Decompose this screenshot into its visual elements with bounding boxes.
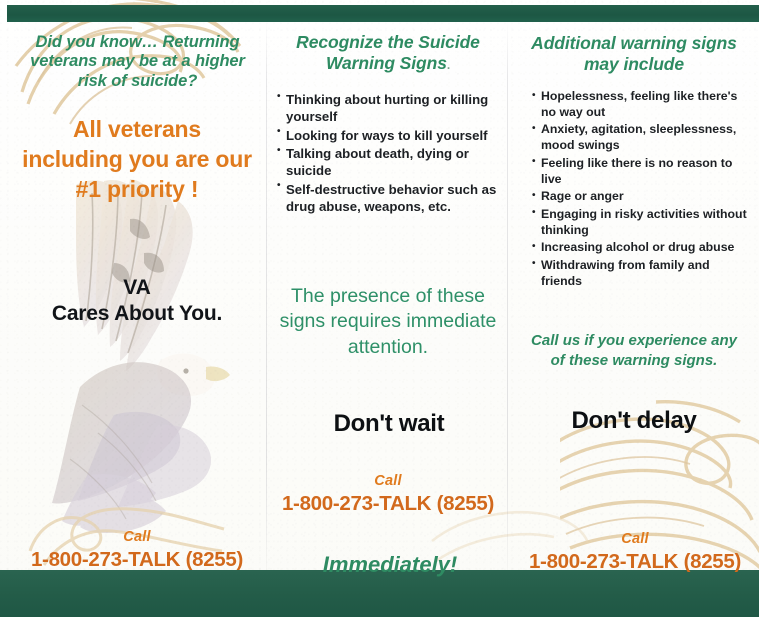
top-green-bar-fill — [7, 5, 759, 22]
call-label: Call — [271, 472, 505, 490]
right-panel-call-block: Call 1-800-273-TALK (8255) — [518, 530, 752, 575]
immediately-text: Immediately! — [277, 552, 503, 578]
bottom-white-edge — [0, 617, 759, 621]
left-panel-call-block: Call 1-800-273-TALK (8255) — [15, 528, 259, 573]
list-item: Rage or anger — [532, 189, 753, 205]
right-panel-additional-signs-list: Hopelessness, feeling like there's no wa… — [532, 89, 753, 291]
middle-panel-call-block: Call 1-800-273-TALK (8255) — [271, 472, 505, 517]
dont-delay-text: Don't delay — [520, 407, 748, 435]
left-panel-orange-statement: All veterans including you are our #1 pr… — [21, 115, 253, 205]
left-panel-headline: Did you know… Returning veterans may be … — [25, 33, 250, 91]
middle-panel-statement: The presence of these signs requires imm… — [275, 284, 501, 360]
hotline-phone-number[interactable]: 1-800-273-TALK (8255) — [271, 490, 505, 517]
list-item: Thinking about hurting or killing yourse… — [277, 91, 505, 125]
right-panel-header: Additional warning signs may include — [520, 33, 748, 74]
panel-left: Did you know… Returning veterans may be … — [7, 22, 266, 570]
top-green-bar — [7, 5, 759, 22]
va-cares-block: VA Cares About You. — [21, 275, 253, 327]
middle-panel-header-trailing-mark: . — [447, 58, 450, 72]
right-panel-statement: Call us if you experience any of these w… — [522, 331, 746, 371]
list-item: Increasing alcohol or drug abuse — [532, 240, 753, 256]
panel-right: Additional warning signs may include Hop… — [508, 22, 759, 570]
list-item: Self-destructive behavior such as drug a… — [277, 181, 505, 215]
dont-wait-text: Don't wait — [275, 410, 503, 438]
panel-middle: Recognize the Suicide Warning Signs. Thi… — [267, 22, 507, 570]
call-label: Call — [15, 528, 259, 546]
middle-panel-header: Recognize the Suicide Warning Signs. — [277, 32, 499, 73]
va-acronym: VA — [21, 275, 253, 301]
list-item: Feeling like there is no reason to live — [532, 156, 753, 188]
list-item: Talking about death, dying or suicide — [277, 145, 505, 179]
warning-signs-list: Thinking about hurting or killing yourse… — [277, 91, 505, 215]
hotline-phone-number[interactable]: 1-800-273-TALK (8255) — [15, 546, 259, 573]
list-item: Anxiety, agitation, sleeplessness, mood … — [532, 122, 753, 154]
call-label: Call — [518, 530, 752, 548]
list-item: Engaging in risky activities without thi… — [532, 207, 753, 239]
brochure-page: Did you know… Returning veterans may be … — [0, 0, 759, 621]
list-item: Looking for ways to kill yourself — [277, 127, 505, 144]
va-cares-tagline: Cares About You. — [21, 301, 253, 328]
list-item: Withdrawing from family and friends — [532, 258, 753, 290]
additional-signs-list: Hopelessness, feeling like there's no wa… — [532, 89, 753, 290]
middle-panel-warning-signs-list: Thinking about hurting or killing yourse… — [277, 91, 505, 216]
list-item: Hopelessness, feeling like there's no wa… — [532, 89, 753, 121]
hotline-phone-number[interactable]: 1-800-273-TALK (8255) — [518, 548, 752, 575]
middle-panel-header-text: Recognize the Suicide Warning Signs — [296, 32, 480, 73]
